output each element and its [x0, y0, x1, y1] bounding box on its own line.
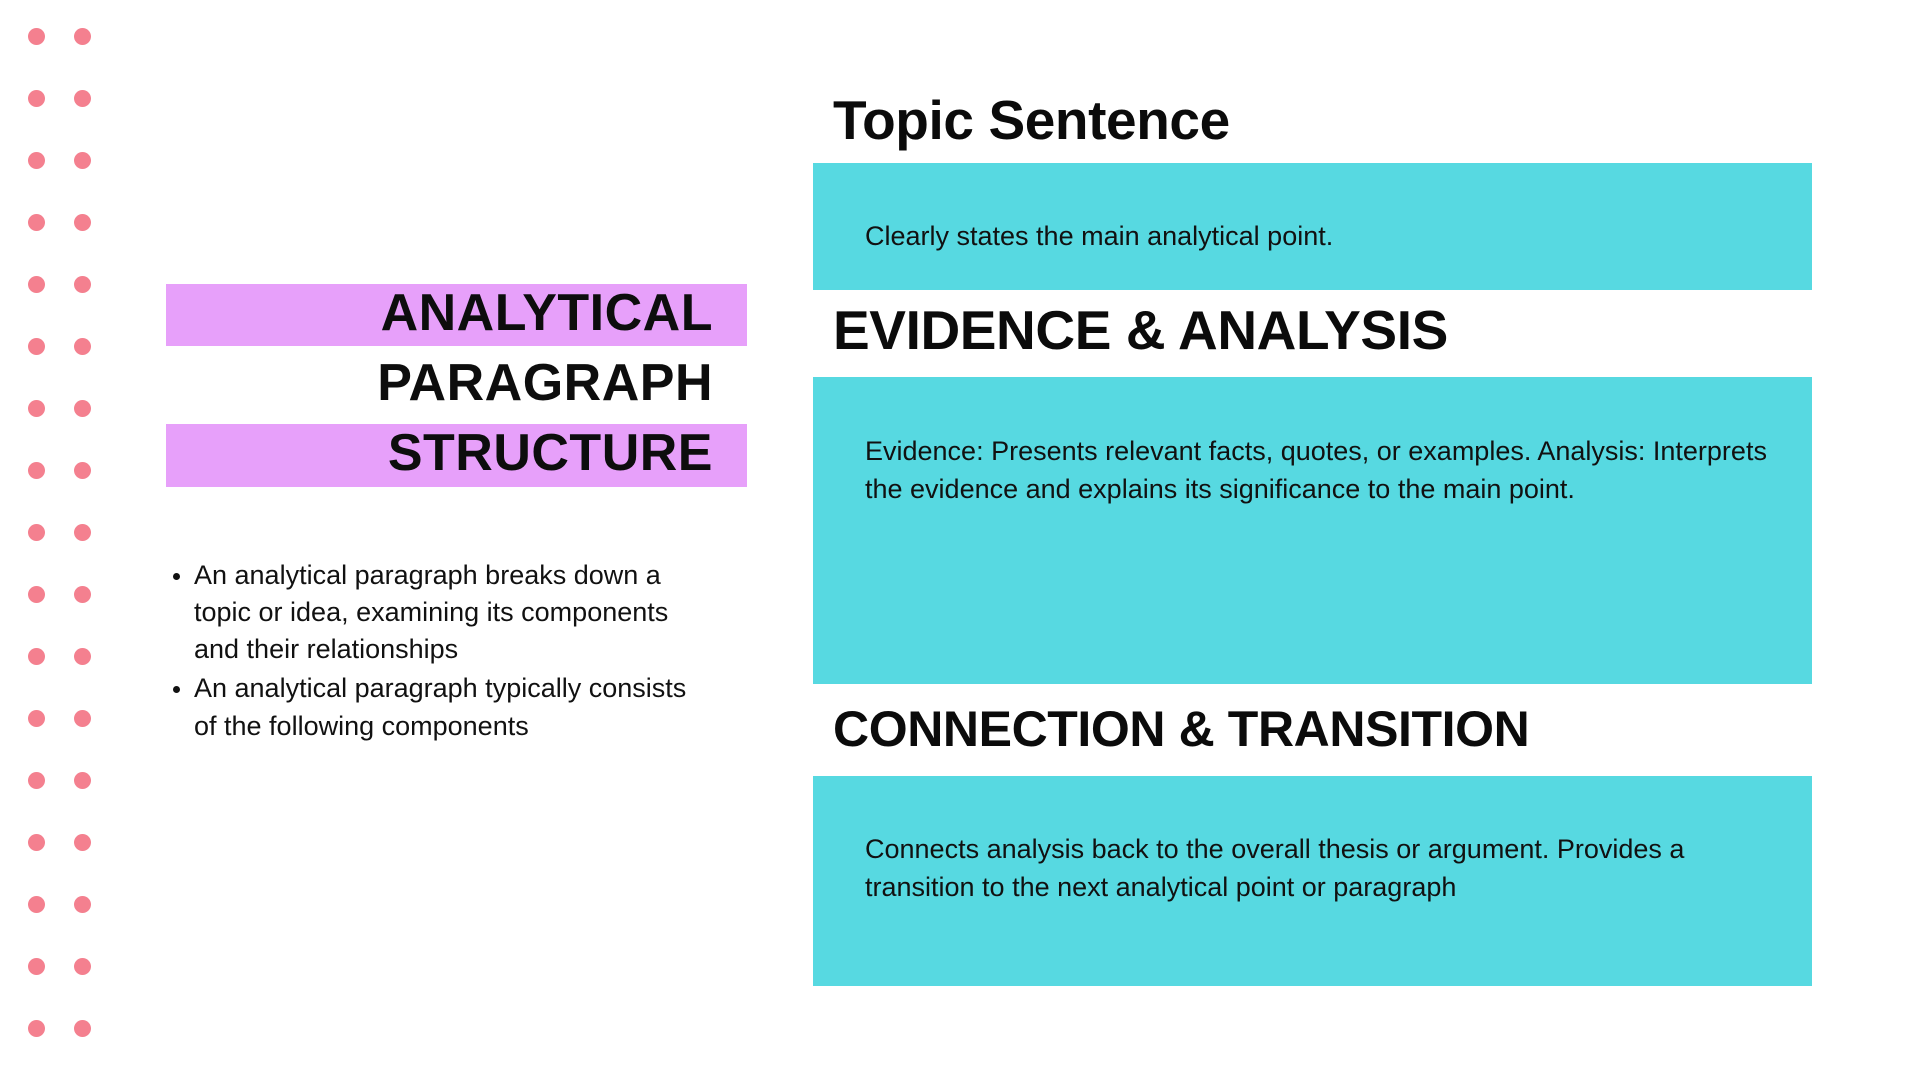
section-heading-evidence-analysis: EVIDENCE & ANALYSIS [833, 298, 1448, 362]
right-column: Topic Sentence Clearly states the main a… [813, 0, 1813, 1080]
decorative-dot [28, 772, 45, 789]
decorative-dot [28, 152, 45, 169]
decorative-dot [74, 896, 91, 913]
section-body-connection-transition: Connects analysis back to the overall th… [865, 830, 1773, 907]
decorative-dot [74, 1020, 91, 1037]
decorative-dot [74, 524, 91, 541]
title-line-2: PARAGRAPH [168, 348, 713, 418]
decorative-dot [74, 152, 91, 169]
list-item: An analytical paragraph typically consis… [194, 670, 713, 745]
decorative-dot [28, 276, 45, 293]
decorative-dot [74, 710, 91, 727]
decorative-dot [74, 958, 91, 975]
list-item: An analytical paragraph breaks down a to… [194, 557, 713, 669]
title-line-3: STRUCTURE [168, 418, 713, 488]
decorative-dot [28, 338, 45, 355]
decorative-dot [74, 214, 91, 231]
section-heading-connection-transition: CONNECTION & TRANSITION [833, 700, 1529, 758]
page-title: ANALYTICAL PARAGRAPH STRUCTURE [168, 278, 713, 489]
section-panel-evidence-analysis [813, 377, 1812, 684]
decorative-dot [74, 28, 91, 45]
decorative-dot [28, 524, 45, 541]
decorative-dot [74, 648, 91, 665]
slide-canvas: ANALYTICAL PARAGRAPH STRUCTURE An analyt… [0, 0, 1920, 1080]
decorative-dot [28, 710, 45, 727]
decorative-dot [28, 1020, 45, 1037]
decorative-dot [28, 400, 45, 417]
title-line-1-text: ANALYTICAL [381, 282, 713, 346]
decorative-dot [28, 958, 45, 975]
decorative-dot [28, 896, 45, 913]
decorative-dot [28, 90, 45, 107]
decorative-dot [28, 586, 45, 603]
decorative-dot [74, 772, 91, 789]
section-body-topic-sentence: Clearly states the main analytical point… [865, 217, 1773, 255]
title-line-1: ANALYTICAL [168, 278, 713, 348]
decorative-dot [28, 28, 45, 45]
title-line-2-text: PARAGRAPH [377, 352, 713, 416]
left-column: ANALYTICAL PARAGRAPH STRUCTURE An analyt… [168, 278, 713, 747]
section-body-evidence-analysis: Evidence: Presents relevant facts, quote… [865, 432, 1773, 509]
decorative-dot [74, 834, 91, 851]
decorative-dot [74, 338, 91, 355]
decorative-dot [28, 214, 45, 231]
decorative-dot [74, 400, 91, 417]
dot-grid-decoration [0, 0, 140, 1080]
decorative-dot [28, 834, 45, 851]
intro-bullet-list: An analytical paragraph breaks down a to… [168, 557, 713, 745]
decorative-dot [28, 462, 45, 479]
section-heading-topic-sentence: Topic Sentence [833, 88, 1230, 152]
decorative-dot [74, 90, 91, 107]
decorative-dot [74, 276, 91, 293]
decorative-dot [28, 648, 45, 665]
decorative-dot [74, 586, 91, 603]
title-line-3-text: STRUCTURE [388, 422, 713, 486]
decorative-dot [74, 462, 91, 479]
